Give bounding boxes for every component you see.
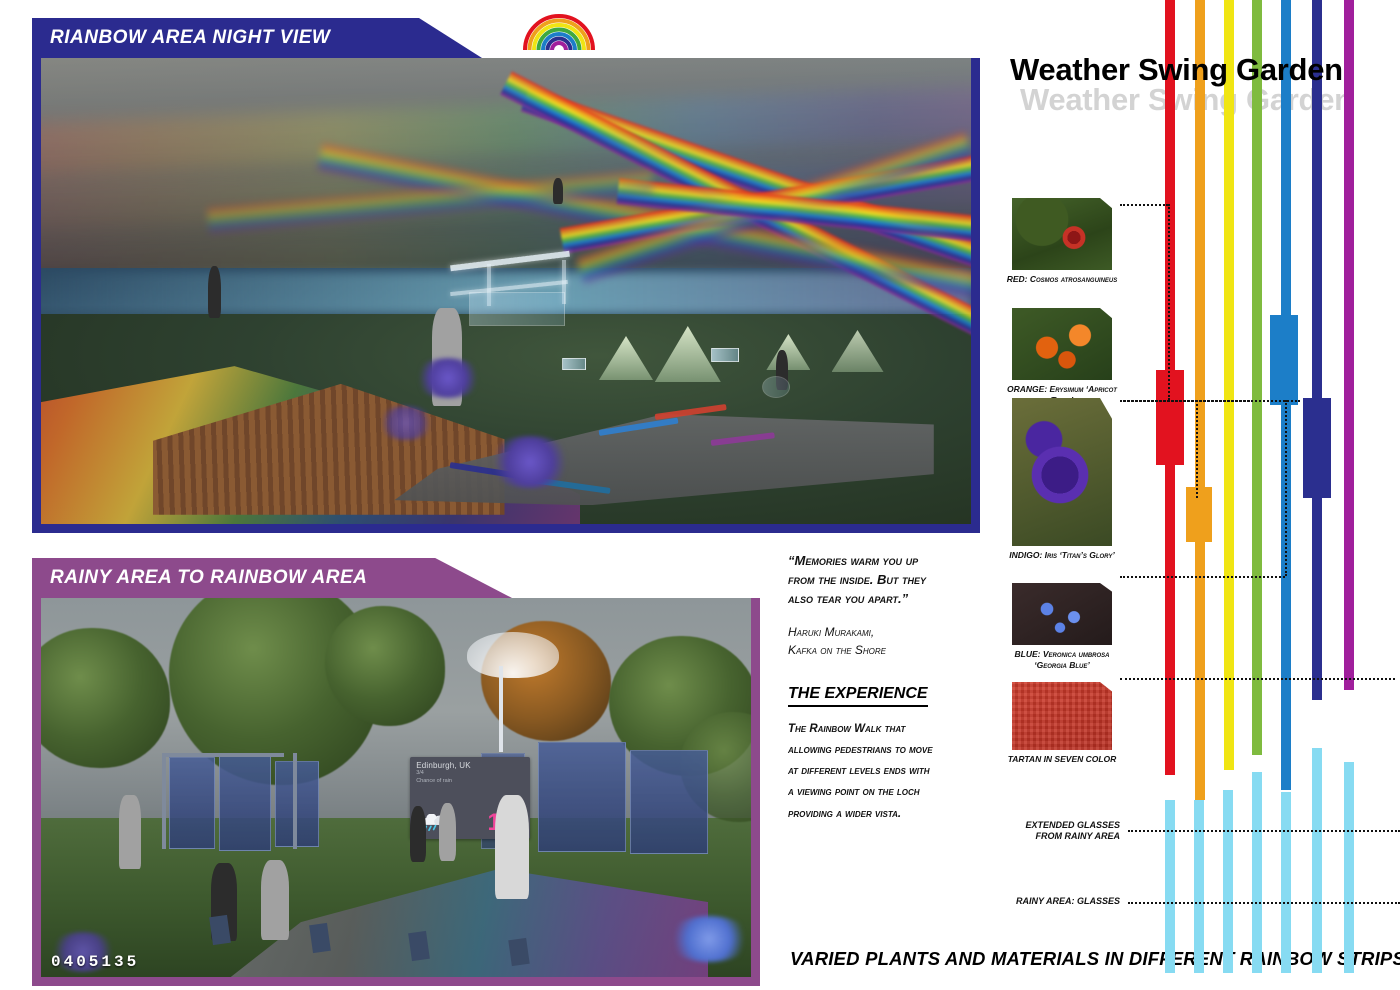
- walkway-glass: [469, 292, 565, 326]
- connector-line-orange: [1196, 400, 1198, 498]
- connector-line-red: [1120, 204, 1168, 206]
- weather-sub-line-2: Chance of rain: [410, 778, 530, 785]
- pergola-beam: [162, 753, 284, 757]
- panel-title-rainy-label: RAINY AREA TO RAINBOW AREA: [50, 567, 367, 589]
- experience-body: The Rainbow Walk that allowing pedestria…: [788, 719, 938, 825]
- glass-plate: [562, 358, 586, 370]
- glass-screen: [169, 757, 215, 849]
- text-column: “Memories warm you up from the inside. B…: [788, 552, 938, 825]
- flower-bed: [666, 916, 751, 962]
- legend-plant-blue: BLUE: Veronica umbrosa ‘Georgia Blue’: [1012, 583, 1122, 670]
- rain-canopy: [467, 632, 559, 678]
- experience-heading: THE EXPERIENCE: [788, 685, 928, 707]
- figure-walking: [119, 795, 141, 869]
- connector-line-blue: [1285, 400, 1287, 576]
- legend-material-tartan: TARTAN IN SEVEN COLOR: [1012, 682, 1122, 765]
- connector-line-red: [1168, 204, 1170, 400]
- flower-bed: [376, 406, 436, 440]
- rainy-view-render: Edinburgh, UK 3/4 Chance of rain 17 °C/°…: [41, 598, 751, 977]
- connector-line-blue: [1120, 576, 1285, 578]
- panel-title-rainy: RAINY AREA TO RAINBOW AREA: [32, 558, 512, 598]
- connector-line-indigo: [1120, 400, 1300, 402]
- plant-caption-indigo: INDIGO: Iris ‘Titan’s Glory’: [1002, 550, 1122, 561]
- tartan-caption: TARTAN IN SEVEN COLOR: [1002, 754, 1122, 765]
- plant-photo-red: [1012, 198, 1112, 270]
- canopy-mast: [499, 666, 503, 752]
- presentation-board: RIANBOW AREA NIGHT VIEW: [0, 0, 1400, 990]
- weather-city: Edinburgh, UK: [410, 757, 530, 770]
- night-view-render: [41, 58, 971, 524]
- plant-photo-indigo: [1012, 398, 1112, 546]
- plant-photo-blue: [1012, 583, 1112, 645]
- weather-sub-line-1: 3/4: [410, 770, 530, 777]
- rainbow-arc-logo: [520, 6, 598, 52]
- label-extended-glasses-l2: FROM RAINY AREA: [940, 831, 1120, 842]
- figure-child: [261, 860, 289, 940]
- panel-title-night: RIANBOW AREA NIGHT VIEW: [32, 18, 482, 58]
- rainy-image-frame: Edinburgh, UK 3/4 Chance of rain 17 °C/°…: [32, 598, 760, 986]
- figure-on-walkway: [553, 178, 563, 204]
- panel-rainbow-night-view: RIANBOW AREA NIGHT VIEW: [32, 18, 980, 543]
- figure-distant: [410, 806, 426, 862]
- glass-screen: [630, 750, 708, 854]
- project-title: Weather Swing Garden: [1010, 52, 1343, 88]
- quote-source: Kafka on the Shore: [788, 641, 938, 659]
- plant-caption-red: RED: Cosmos atrosanguineus: [1002, 274, 1122, 285]
- label-rainy-area-glasses: RAINY AREA: GLASSES: [940, 896, 1120, 907]
- pergola-post: [162, 753, 166, 849]
- flower-bed: [487, 436, 573, 488]
- bicycle-wheels: [762, 376, 790, 398]
- legend-plant-orange: ORANGE: Erysimum ‘Apricot Twist’: [1012, 308, 1122, 405]
- flower-bed: [413, 358, 483, 398]
- glass-marker: [508, 938, 529, 966]
- legend-plant-red: RED: Cosmos atrosanguineus: [1012, 198, 1122, 285]
- glass-screen: [219, 753, 271, 851]
- tartan-swatch: [1012, 682, 1112, 750]
- plant-caption-blue: BLUE: Veronica umbrosa ‘Georgia Blue’: [1002, 649, 1122, 670]
- glass-plate: [711, 348, 739, 362]
- pergola-post: [293, 753, 297, 849]
- glass-screen: [275, 761, 319, 847]
- label-extended-glasses: EXTENDED GLASSES FROM RAINY AREA: [940, 820, 1120, 842]
- legend-plant-indigo: INDIGO: Iris ‘Titan’s Glory’: [1012, 398, 1122, 561]
- night-image-frame: [32, 58, 980, 533]
- board-id-tag: 0405135: [51, 953, 139, 971]
- quote-attribution: Haruki Murakami, Kafka on the Shore: [788, 623, 938, 659]
- plant-photo-orange: [1012, 308, 1112, 380]
- panel-rainy-to-rainbow: RAINY AREA TO RAINBOW AREA: [32, 558, 760, 984]
- panel-title-night-label: RIANBOW AREA NIGHT VIEW: [50, 27, 330, 49]
- connector-line-extended-glass: [1128, 830, 1400, 832]
- connector-line-rainy-glass: [1128, 902, 1400, 904]
- connector-line-tartan: [1120, 678, 1395, 680]
- murakami-quote: “Memories warm you up from the inside. B…: [788, 552, 938, 609]
- figure-runner: [495, 795, 529, 899]
- quote-author: Haruki Murakami,: [788, 623, 938, 641]
- figure-standing: [208, 266, 221, 318]
- glass-marker: [309, 923, 331, 953]
- figure-distant: [439, 803, 456, 861]
- tree: [325, 606, 445, 726]
- footer-banner: VARIED PLANTS AND MATERIALS IN DIFFERENT…: [790, 948, 1390, 970]
- label-extended-glasses-l1: EXTENDED GLASSES: [940, 820, 1120, 831]
- glass-screen: [538, 742, 626, 852]
